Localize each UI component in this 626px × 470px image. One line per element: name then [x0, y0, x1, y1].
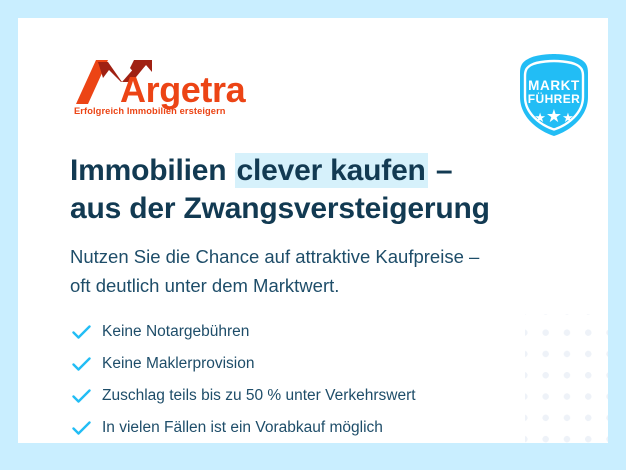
list-item-label: Zuschlag teils bis zu 50 % unter Verkehr…	[102, 388, 416, 404]
list-item-label: Keine Notargebühren	[102, 324, 249, 340]
headline-text-after: –	[428, 154, 453, 187]
subtitle: Nutzen Sie die Chance auf attraktive Kau…	[70, 242, 550, 300]
page-title: Immobilien clever kaufen – aus der Zwang…	[70, 152, 540, 228]
badge-line-2: FÜHRER	[510, 93, 598, 105]
headline-highlight: clever kaufen	[235, 153, 428, 188]
check-icon	[72, 325, 102, 340]
list-item-label: Keine Maklerprovision	[102, 356, 255, 372]
headline-text-before: Immobilien	[70, 154, 235, 187]
subtitle-line-2: oft deutlich unter dem Marktwert.	[70, 271, 550, 300]
promo-banner: Argetra Erfolgreich Immobilien ersteiger…	[0, 0, 626, 470]
check-icon	[72, 357, 102, 372]
list-item: Keine Notargebühren	[72, 316, 512, 348]
headline-line-2: aus der Zwangsversteigerung	[70, 190, 540, 228]
dot-grid-pattern	[525, 314, 608, 443]
benefit-list: Keine Notargebühren Keine Maklerprovisio…	[72, 316, 512, 443]
list-item-label: In vielen Fällen ist ein Vorabkauf mögli…	[102, 420, 383, 436]
subtitle-line-1: Nutzen Sie die Chance auf attraktive Kau…	[70, 242, 550, 271]
list-item: Keine Maklerprovision	[72, 348, 512, 380]
logo-tagline: Erfolgreich Immobilien ersteigern	[74, 106, 226, 116]
list-item: In vielen Fällen ist ein Vorabkauf mögli…	[72, 412, 512, 443]
badge-stars: ★★★	[510, 107, 598, 126]
promo-card: Argetra Erfolgreich Immobilien ersteiger…	[18, 18, 608, 443]
logo-wordmark: Argetra	[120, 72, 245, 108]
badge-line-1: MARKT	[510, 79, 598, 93]
list-item: Zuschlag teils bis zu 50 % unter Verkehr…	[72, 380, 512, 412]
argetra-logo[interactable]: Argetra Erfolgreich Immobilien ersteiger…	[74, 58, 254, 120]
headline-line-1: Immobilien clever kaufen –	[70, 152, 540, 190]
check-icon	[72, 389, 102, 404]
check-icon	[72, 421, 102, 436]
market-leader-badge: MARKT FÜHRER ★★★	[510, 51, 598, 139]
